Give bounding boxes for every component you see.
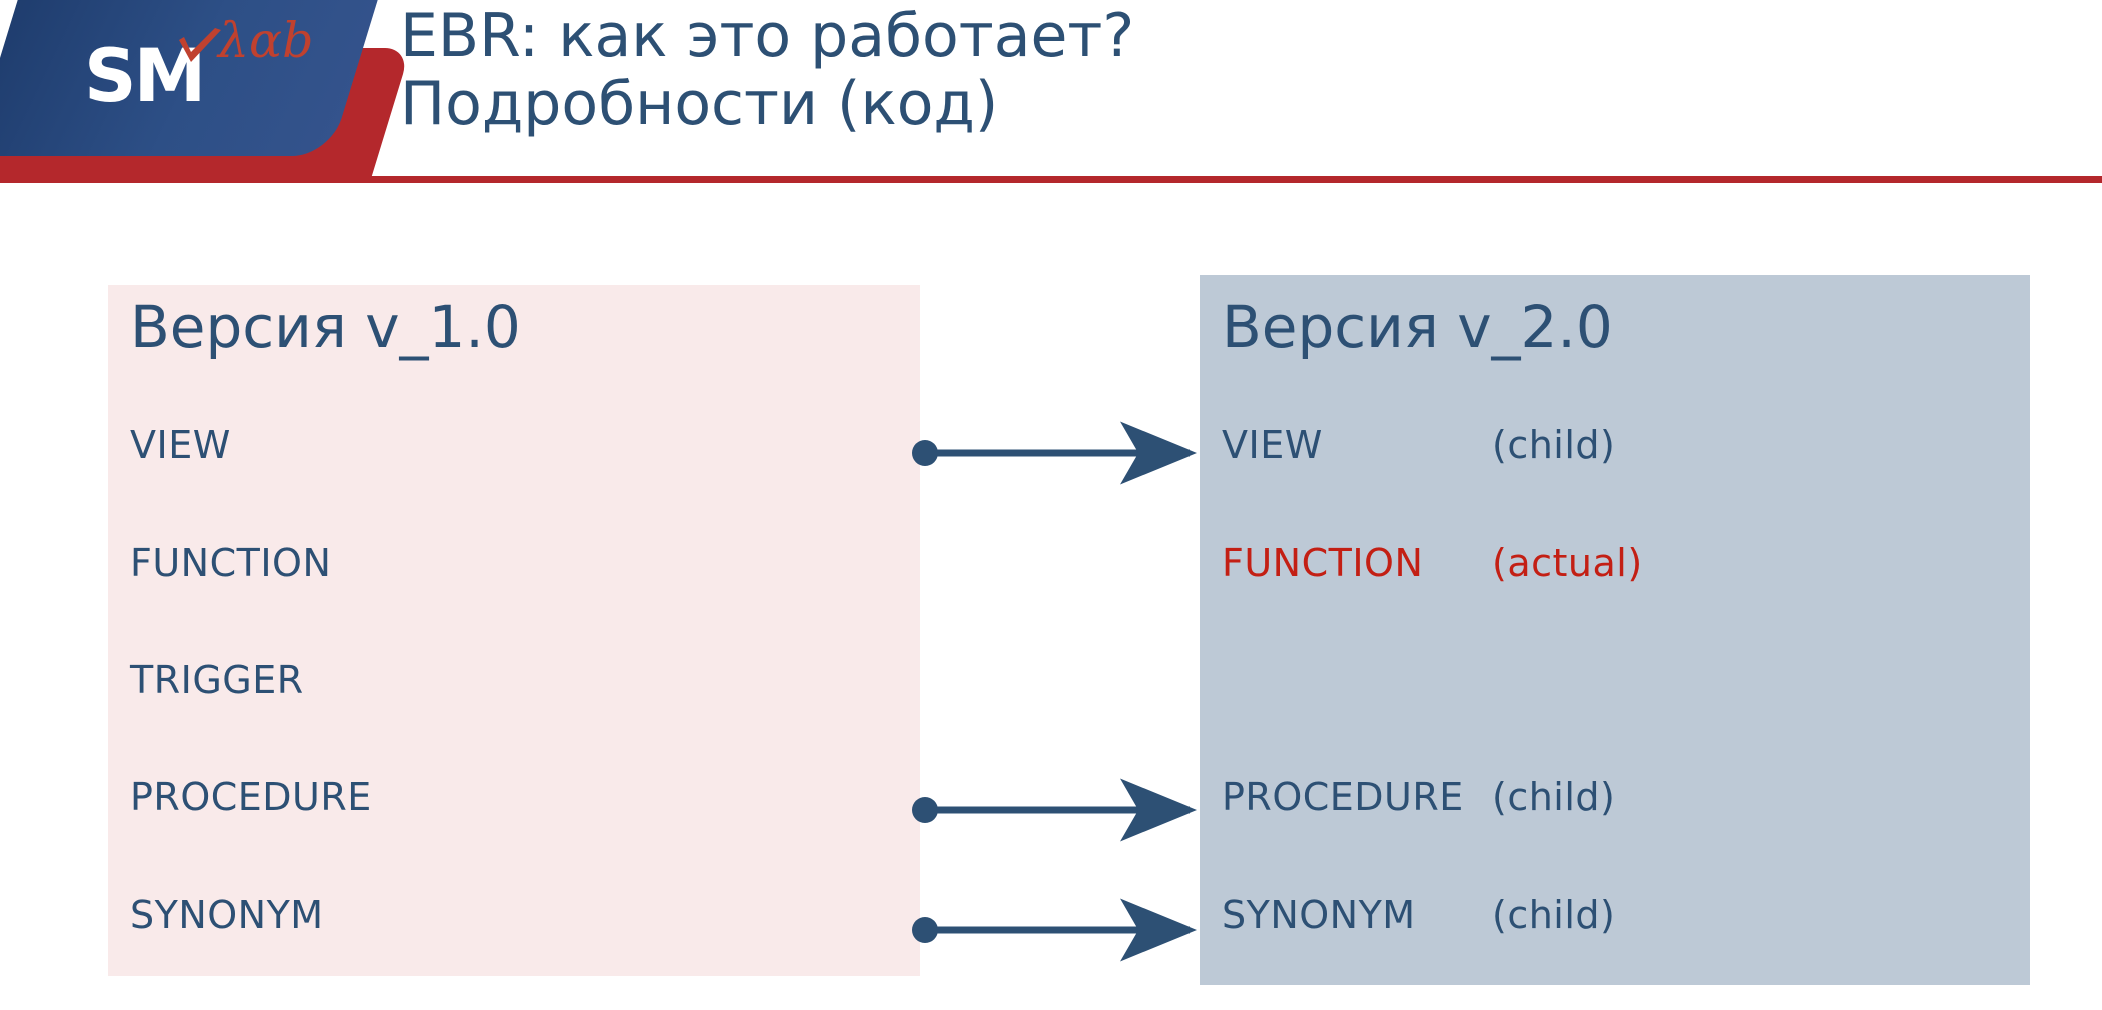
page-title-line-2: Подробности (код)	[400, 70, 2040, 138]
panel-left-heading: Версия v_1.0	[130, 293, 521, 361]
panel-version-2: Версия v_2.0 VIEW (child) FUNCTION (actu…	[1200, 275, 2030, 985]
right-row-procedure-tag: (child)	[1492, 775, 1615, 819]
left-row-function-label: FUNCTION	[130, 541, 331, 585]
checkmark-icon	[177, 28, 223, 68]
left-row-trigger: TRIGGER	[130, 660, 304, 700]
brand-logo: SM λαb	[0, 0, 400, 190]
right-row-view: VIEW (child)	[1222, 425, 1323, 465]
slide-header: SM λαb EBR: как это работает? Подробност…	[0, 0, 2102, 190]
right-row-function-label: FUNCTION	[1222, 541, 1423, 585]
right-row-synonym-label: SYNONYM	[1222, 893, 1416, 937]
right-row-procedure: PROCEDURE (child)	[1222, 777, 1464, 817]
right-row-view-label: VIEW	[1222, 423, 1323, 467]
left-row-procedure-label: PROCEDURE	[130, 775, 372, 819]
connector-procedure	[912, 797, 1190, 823]
right-row-synonym: SYNONYM (child)	[1222, 895, 1416, 935]
left-row-synonym-label: SYNONYM	[130, 893, 324, 937]
right-row-function-tag: (actual)	[1492, 541, 1643, 585]
connector-view	[912, 440, 1190, 466]
left-row-function: FUNCTION	[130, 543, 331, 583]
left-row-view-label: VIEW	[130, 423, 231, 467]
right-row-procedure-label: PROCEDURE	[1222, 775, 1464, 819]
right-row-function: FUNCTION (actual)	[1222, 543, 1423, 583]
panel-version-1: Версия v_1.0 VIEW FUNCTION TRIGGER PROCE…	[108, 285, 920, 976]
page-title-line-1: EBR: как это работает?	[400, 2, 2040, 70]
left-row-view: VIEW	[130, 425, 231, 465]
left-row-synonym: SYNONYM	[130, 895, 324, 935]
page-title: EBR: как это работает? Подробности (код)	[400, 2, 2040, 138]
logo-sublabel: λαb	[218, 12, 314, 69]
header-divider-rule	[0, 176, 2102, 183]
right-row-view-tag: (child)	[1492, 423, 1615, 467]
logo-mark: SM λαb	[84, 10, 314, 135]
right-row-synonym-tag: (child)	[1492, 893, 1615, 937]
left-row-procedure: PROCEDURE	[130, 777, 372, 817]
connector-synonym	[912, 917, 1190, 943]
panel-right-heading: Версия v_2.0	[1222, 293, 1613, 361]
left-row-trigger-label: TRIGGER	[130, 658, 304, 702]
